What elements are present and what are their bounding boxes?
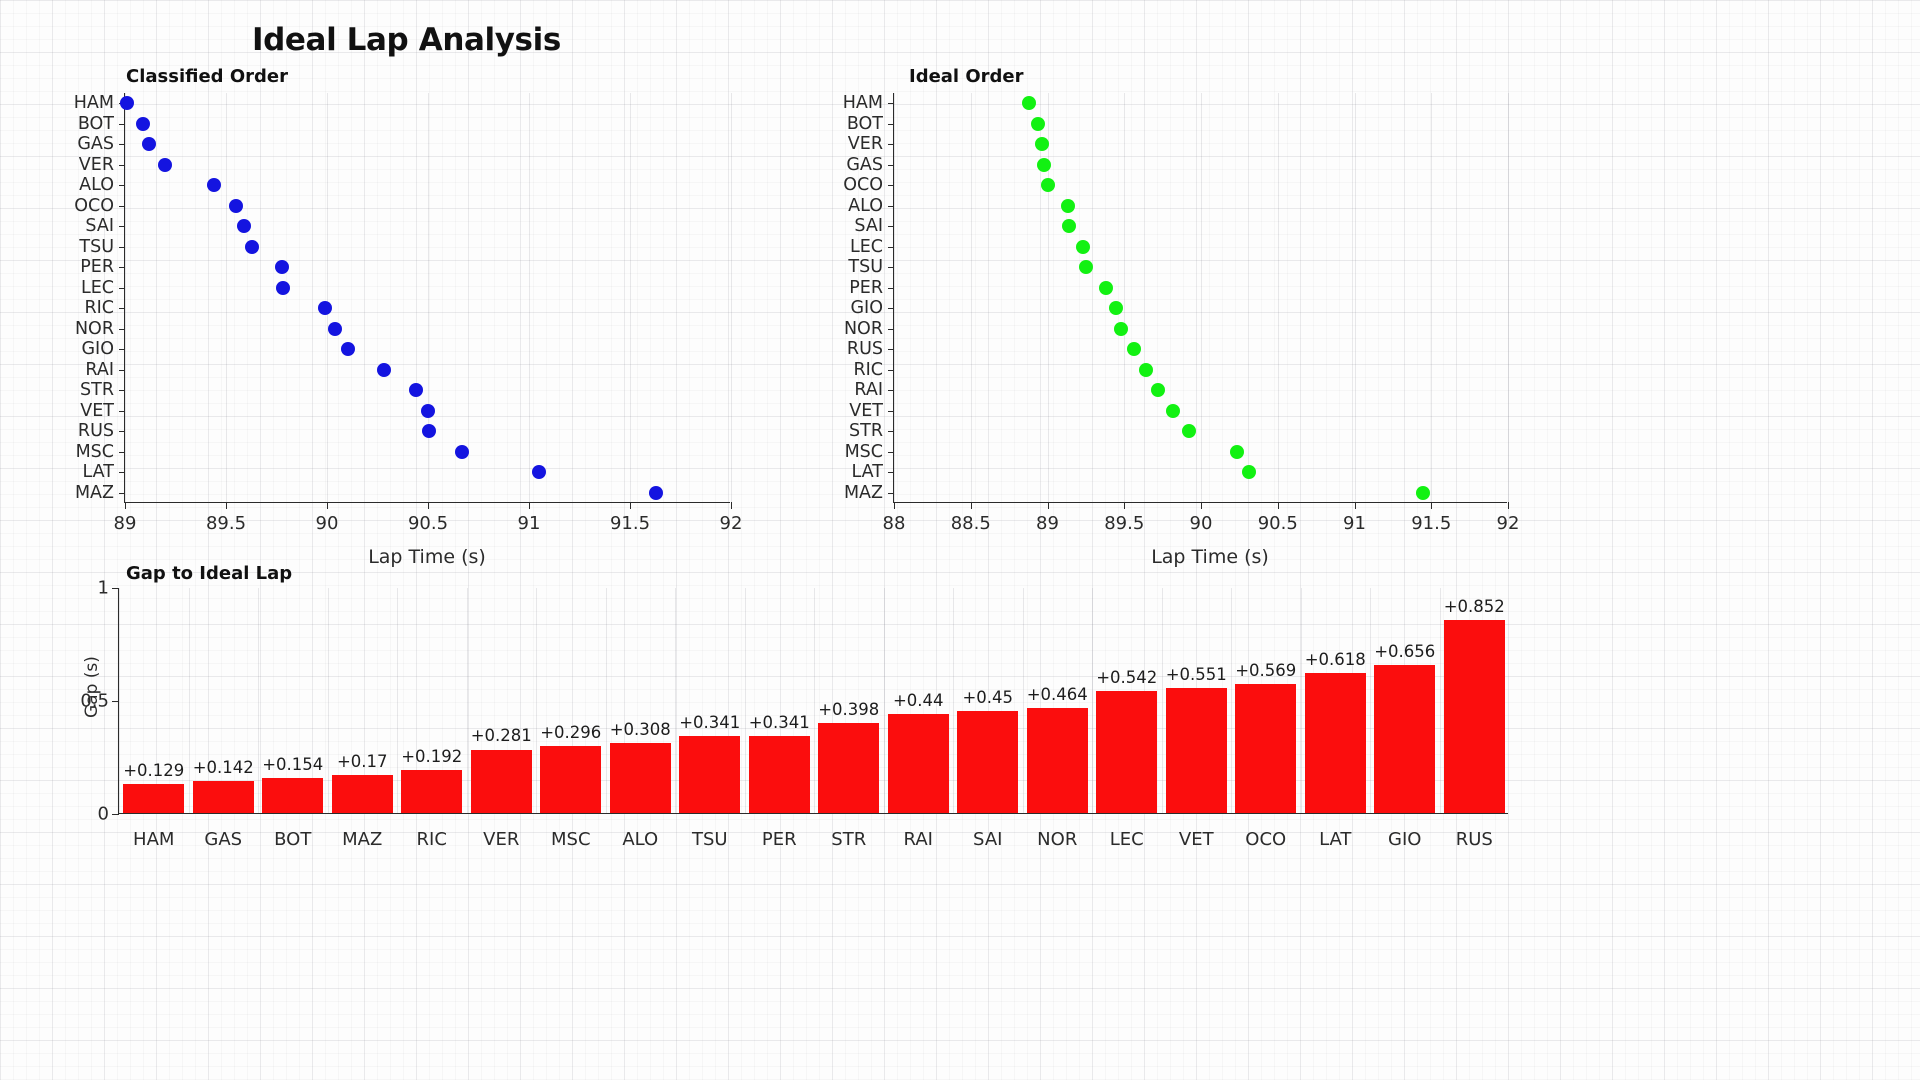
bar-gridline	[1301, 588, 1302, 813]
bar-gridline	[1162, 588, 1163, 813]
y-axis-tick	[888, 144, 894, 145]
gap-bar[interactable]	[262, 778, 323, 813]
lap-time-point[interactable]	[237, 219, 251, 233]
gap-bar-value-label: +0.44	[893, 691, 944, 710]
panel-gap-to-ideal-title: Gap to Ideal Lap	[126, 563, 292, 584]
gap-bar-value-label: +0.142	[193, 758, 254, 777]
gap-bar-category-label: RAI	[904, 829, 933, 850]
x-axis-tick	[1508, 502, 1509, 509]
figure-root: Ideal Lap Analysis Classified Order 8989…	[0, 0, 1920, 1080]
gap-bar-category-label: LEC	[1110, 829, 1144, 850]
bar-gridline	[1370, 588, 1371, 813]
y-axis-tick	[888, 267, 894, 268]
x-gridline	[327, 93, 328, 502]
gap-bar-category-label: MSC	[551, 829, 591, 850]
x-gridline	[1201, 93, 1202, 502]
lap-time-point[interactable]	[318, 301, 332, 315]
x-axis-tick-label: 90	[1190, 513, 1213, 534]
gap-bar-value-label: +0.296	[540, 723, 601, 742]
x-axis-tick-label: 91.5	[610, 513, 650, 534]
bar-gridline	[536, 588, 537, 813]
x-gridline	[529, 93, 530, 502]
gap-bar-value-label: +0.464	[1027, 685, 1088, 704]
x-axis-tick	[894, 502, 895, 509]
x-axis-tick-label: 91	[1343, 513, 1366, 534]
gap-axis-tick	[112, 814, 119, 815]
x-gridline	[1124, 93, 1125, 502]
gap-bar-value-label: +0.618	[1305, 650, 1366, 669]
gap-bar-category-label: GAS	[204, 829, 242, 850]
gap-bar[interactable]	[193, 781, 254, 813]
lap-time-point[interactable]	[649, 486, 663, 500]
gap-bar-category-label: PER	[762, 829, 797, 850]
y-axis-tick	[119, 390, 125, 391]
lap-time-point[interactable]	[1230, 445, 1244, 459]
y-axis-tick	[888, 390, 894, 391]
x-axis-tick-label: 92	[1497, 513, 1520, 534]
x-axis-tick-label: 92	[720, 513, 743, 534]
gap-bar-value-label: +0.542	[1096, 668, 1157, 687]
x-axis-tick-label: 91.5	[1411, 513, 1451, 534]
gap-bar-category-label: RUS	[1456, 829, 1493, 850]
lap-time-point[interactable]	[1127, 342, 1141, 356]
lap-time-point[interactable]	[1061, 199, 1075, 213]
y-axis-tick	[888, 329, 894, 330]
y-axis-tick	[888, 206, 894, 207]
driver-label: RUS	[847, 339, 894, 359]
x-axis-tick	[1355, 502, 1356, 509]
gap-bar-category-label: NOR	[1037, 829, 1077, 850]
x-axis-tick-label: 90.5	[408, 513, 448, 534]
lap-time-point[interactable]	[1079, 260, 1093, 274]
y-axis-tick	[888, 431, 894, 432]
y-axis-tick	[888, 349, 894, 350]
x-axis-tick	[1431, 502, 1432, 509]
bar-gridline	[328, 588, 329, 813]
lap-time-point[interactable]	[1099, 281, 1113, 295]
lap-time-point[interactable]	[1062, 219, 1076, 233]
lap-time-point[interactable]	[1182, 424, 1196, 438]
x-axis-tick	[125, 502, 126, 509]
ideal-order-plot-area: 8888.58989.59090.59191.592HAMBOTVERGASOC…	[893, 93, 1507, 503]
gap-to-ideal-yaxis-title: Gap (s)	[82, 656, 102, 718]
lap-time-point[interactable]	[532, 465, 546, 479]
y-axis-tick	[119, 308, 125, 309]
x-gridline	[1355, 93, 1356, 502]
driver-label: NOR	[75, 319, 125, 339]
y-axis-tick	[119, 267, 125, 268]
gap-bar[interactable]	[610, 743, 671, 813]
bar-gridline	[397, 588, 398, 813]
driver-label: MAZ	[75, 483, 125, 503]
x-gridline	[428, 93, 429, 502]
driver-label: GAS	[846, 155, 894, 175]
gap-bar[interactable]	[957, 711, 1018, 813]
y-axis-tick	[119, 288, 125, 289]
x-axis-tick-label: 89	[114, 513, 137, 534]
lap-time-point[interactable]	[1022, 96, 1036, 110]
y-axis-tick	[119, 226, 125, 227]
figure-title: Ideal Lap Analysis	[252, 22, 561, 58]
bar-gridline	[1092, 588, 1093, 813]
gap-bar-value-label: +0.341	[749, 713, 810, 732]
driver-label: MAZ	[844, 483, 894, 503]
y-axis-tick	[119, 124, 125, 125]
gap-bar-value-label: +0.551	[1166, 665, 1227, 684]
bar-gridline	[119, 588, 120, 813]
lap-time-point[interactable]	[245, 240, 259, 254]
x-axis-tick	[226, 502, 227, 509]
ideal-order-xaxis-title: Lap Time (s)	[1151, 546, 1269, 568]
gap-bar-value-label: +0.569	[1235, 661, 1296, 680]
x-axis-tick	[731, 502, 732, 509]
lap-time-point[interactable]	[422, 424, 436, 438]
gap-bar-value-label: +0.341	[679, 713, 740, 732]
lap-time-point[interactable]	[142, 137, 156, 151]
gap-bar-category-label: VER	[483, 829, 519, 850]
lap-time-point[interactable]	[136, 117, 150, 131]
gap-to-ideal-plot-area: 00.51+0.129HAM+0.142GAS+0.154BOT+0.17MAZ…	[118, 588, 1508, 814]
bar-gridline	[258, 588, 259, 813]
y-axis-tick	[119, 329, 125, 330]
y-axis-tick	[119, 165, 125, 166]
x-axis-tick	[1278, 502, 1279, 509]
y-axis-tick	[888, 165, 894, 166]
y-axis-tick	[888, 493, 894, 494]
gap-bar-category-label: SAI	[973, 829, 1002, 850]
driver-label: BOT	[847, 114, 894, 134]
y-axis-tick	[119, 472, 125, 473]
gap-bar-category-label: ALO	[622, 829, 658, 850]
lap-time-point[interactable]	[1035, 137, 1049, 151]
x-axis-tick	[1048, 502, 1049, 509]
lap-time-point[interactable]	[409, 383, 423, 397]
bar-gridline	[675, 588, 676, 813]
gap-bar-category-label: GIO	[1388, 829, 1421, 850]
y-axis-tick	[888, 411, 894, 412]
x-axis-tick-label: 88.5	[951, 513, 991, 534]
driver-label: MSC	[76, 442, 125, 462]
driver-label: OCO	[74, 196, 125, 216]
gap-bar[interactable]	[1305, 673, 1366, 813]
bar-gridline	[467, 588, 468, 813]
x-axis-tick	[1201, 502, 1202, 509]
gap-bar[interactable]	[1374, 665, 1435, 813]
x-axis-tick-label: 90.5	[1258, 513, 1298, 534]
lap-time-point[interactable]	[207, 178, 221, 192]
gap-bar-value-label: +0.656	[1374, 642, 1435, 661]
x-axis-tick	[1124, 502, 1125, 509]
gap-bar[interactable]	[679, 736, 740, 813]
lap-time-point[interactable]	[276, 281, 290, 295]
x-axis-tick-label: 88	[883, 513, 906, 534]
y-axis-tick	[888, 185, 894, 186]
lap-time-point[interactable]	[1151, 383, 1165, 397]
bar-gridline	[1231, 588, 1232, 813]
lap-time-point[interactable]	[120, 96, 134, 110]
lap-time-point[interactable]	[328, 322, 342, 336]
gap-bar-value-label: +0.398	[818, 700, 879, 719]
lap-time-point[interactable]	[1166, 404, 1180, 418]
y-axis-tick	[119, 493, 125, 494]
lap-time-point[interactable]	[275, 260, 289, 274]
gap-bar[interactable]	[818, 723, 879, 813]
y-axis-tick	[119, 247, 125, 248]
driver-label: HAM	[843, 93, 894, 113]
driver-label: MSC	[845, 442, 894, 462]
gap-bar-value-label: +0.192	[401, 747, 462, 766]
gap-bar-category-label: TSU	[692, 829, 728, 850]
gap-axis-tick	[112, 701, 119, 702]
gap-bar-value-label: +0.852	[1444, 597, 1505, 616]
gap-bar[interactable]	[749, 736, 810, 813]
bar-gridline	[953, 588, 954, 813]
gap-bar[interactable]	[332, 775, 393, 813]
x-axis-tick	[327, 502, 328, 509]
y-axis-tick	[119, 411, 125, 412]
gap-bar[interactable]	[1096, 691, 1157, 813]
lap-time-point[interactable]	[1109, 301, 1123, 315]
lap-time-point[interactable]	[1242, 465, 1256, 479]
gap-bar-value-label: +0.154	[262, 755, 323, 774]
x-gridline	[630, 93, 631, 502]
gap-bar[interactable]	[1027, 708, 1088, 813]
x-gridline	[1508, 93, 1509, 502]
classified-order-xaxis-title: Lap Time (s)	[368, 546, 486, 568]
lap-time-point[interactable]	[377, 363, 391, 377]
bar-gridline	[884, 588, 885, 813]
driver-label: HAM	[74, 93, 125, 113]
lap-time-point[interactable]	[1139, 363, 1153, 377]
x-axis-tick	[428, 502, 429, 509]
gap-bar-category-label: RIC	[417, 829, 447, 850]
gap-bar-value-label: +0.45	[962, 688, 1013, 707]
gap-bar-value-label: +0.17	[337, 752, 388, 771]
x-axis-tick	[529, 502, 530, 509]
y-axis-tick	[119, 452, 125, 453]
gap-axis-tick	[112, 588, 119, 589]
bar-gridline	[745, 588, 746, 813]
lap-time-point[interactable]	[455, 445, 469, 459]
gap-bar[interactable]	[1235, 684, 1296, 813]
y-axis-tick	[888, 452, 894, 453]
gap-bar-category-label: OCO	[1245, 829, 1286, 850]
x-axis-tick-label: 91	[518, 513, 541, 534]
y-axis-tick	[888, 370, 894, 371]
gap-bar-value-label: +0.281	[471, 726, 532, 745]
gap-bar-category-label: STR	[831, 829, 866, 850]
bar-gridline	[189, 588, 190, 813]
y-axis-tick	[888, 103, 894, 104]
bar-gridline	[606, 588, 607, 813]
y-axis-tick	[888, 124, 894, 125]
lap-time-point[interactable]	[1076, 240, 1090, 254]
driver-label: GAS	[77, 134, 125, 154]
driver-label: BOT	[78, 114, 125, 134]
lap-time-point[interactable]	[1031, 117, 1045, 131]
y-axis-tick	[119, 206, 125, 207]
y-axis-tick	[119, 144, 125, 145]
x-gridline	[125, 93, 126, 502]
gap-bar[interactable]	[1166, 688, 1227, 813]
y-axis-tick	[119, 431, 125, 432]
y-axis-tick	[888, 226, 894, 227]
panel-ideal-order-title: Ideal Order	[909, 66, 1024, 87]
x-axis-tick-label: 89.5	[206, 513, 246, 534]
y-axis-tick	[888, 308, 894, 309]
lap-time-point[interactable]	[1114, 322, 1128, 336]
lap-time-point[interactable]	[1037, 158, 1051, 172]
y-axis-tick	[119, 370, 125, 371]
gap-bar-value-label: +0.308	[610, 720, 671, 739]
x-gridline	[1431, 93, 1432, 502]
gap-bar-category-label: HAM	[133, 829, 174, 850]
lap-time-point[interactable]	[229, 199, 243, 213]
gap-bar-category-label: BOT	[274, 829, 311, 850]
x-axis-tick-label: 90	[316, 513, 339, 534]
gap-bar-category-label: LAT	[1319, 829, 1351, 850]
panel-classified-order-title: Classified Order	[126, 66, 288, 87]
lap-time-point[interactable]	[158, 158, 172, 172]
lap-time-point[interactable]	[1041, 178, 1055, 192]
bar-gridline	[1440, 588, 1441, 813]
x-axis-tick-label: 89	[1036, 513, 1059, 534]
bar-gridline	[1023, 588, 1024, 813]
gap-bar[interactable]	[1444, 620, 1505, 813]
x-gridline	[894, 93, 895, 502]
gap-bar-category-label: MAZ	[342, 829, 382, 850]
y-axis-tick	[119, 185, 125, 186]
x-gridline	[1048, 93, 1049, 502]
x-gridline	[226, 93, 227, 502]
gap-bar-category-label: VET	[1179, 829, 1214, 850]
lap-time-point[interactable]	[341, 342, 355, 356]
y-axis-tick	[888, 472, 894, 473]
gap-bar[interactable]	[401, 770, 462, 813]
lap-time-point[interactable]	[421, 404, 435, 418]
x-gridline	[731, 93, 732, 502]
lap-time-point[interactable]	[1416, 486, 1430, 500]
gap-bar[interactable]	[888, 714, 949, 813]
gap-bar[interactable]	[471, 750, 532, 814]
y-axis-tick	[888, 288, 894, 289]
x-axis-tick	[630, 502, 631, 509]
gap-bar[interactable]	[540, 746, 601, 813]
x-axis-tick	[971, 502, 972, 509]
bar-gridline	[814, 588, 815, 813]
x-axis-tick-label: 89.5	[1104, 513, 1144, 534]
x-gridline	[1278, 93, 1279, 502]
classified-order-plot-area: 8989.59090.59191.592HAMBOTGASVERALOOCOSA…	[124, 93, 730, 503]
x-gridline	[971, 93, 972, 502]
driver-label: OCO	[843, 175, 894, 195]
gap-bar-value-label: +0.129	[123, 761, 184, 780]
gap-bar[interactable]	[123, 784, 184, 813]
driver-label: RUS	[78, 421, 125, 441]
y-axis-tick	[888, 247, 894, 248]
y-axis-tick	[119, 349, 125, 350]
driver-label: NOR	[844, 319, 894, 339]
